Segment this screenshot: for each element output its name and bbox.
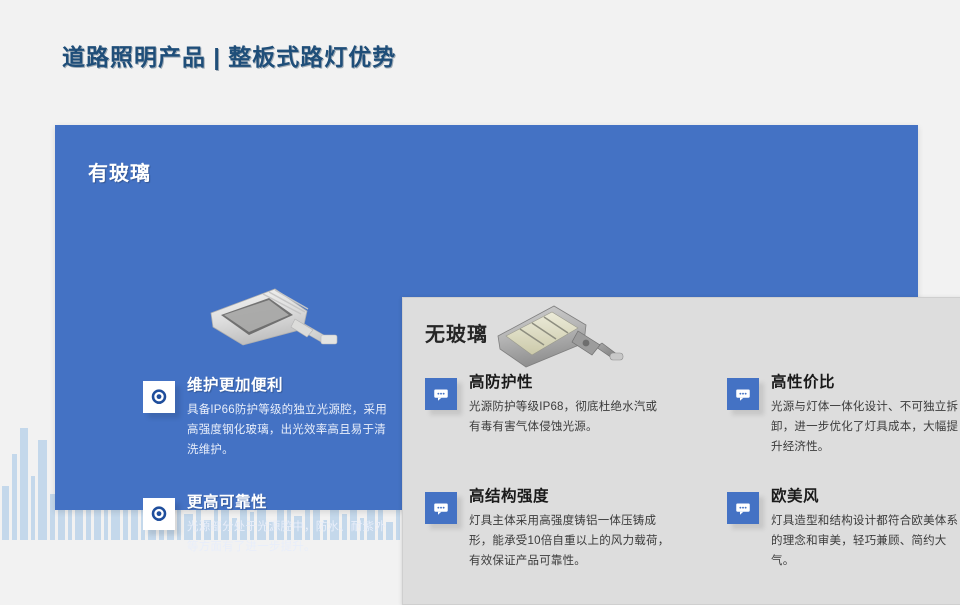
speech-bubble-dots-icon [727, 378, 759, 410]
deco-bar [2, 486, 9, 540]
feature-item-euro-american-style[interactable]: 欧美风 灯具造型和结构设计都符合欧美体系的理念和审美，轻巧兼顾、简约大气。 [727, 488, 960, 571]
page-title: 道路照明产品 | 整板式路灯优势 [62, 38, 396, 72]
feature-description: 光源部分处于光源腔中，防水、耐紫外等方面有了进一步提升。 [187, 517, 388, 557]
street-lamp-with-glass-image [203, 283, 338, 366]
blue-comparison-panel: 有玻璃 [55, 125, 918, 510]
speech-bubble-dots-icon [425, 378, 457, 410]
deco-bar [31, 476, 35, 540]
feature-item-protection[interactable]: 高防护性 光源防护等级IP68，彻底杜绝水汽或有毒有害气体侵蚀光源。 [425, 374, 660, 437]
feature-description: 光源防护等级IP68，彻底杜绝水汽或有毒有害气体侵蚀光源。 [469, 397, 660, 437]
street-lamp-without-glass-image [492, 301, 624, 380]
feature-title: 高防护性 [469, 374, 660, 393]
feature-title: 更高可靠性 [187, 494, 388, 513]
deco-bar [38, 440, 47, 540]
feature-description: 灯具主体采用高强度铸铝一体压铸成形，能承受10倍自重以上的风力载荷，有效保证产品… [469, 511, 670, 571]
camera-ring-icon [143, 381, 175, 413]
deco-bar [12, 454, 17, 540]
feature-description: 灯具造型和结构设计都符合欧美体系的理念和审美，轻巧兼顾、简约大气。 [771, 511, 960, 571]
feature-description: 光源与灯体一体化设计、不可独立拆卸，进一步优化了灯具成本，大幅提升经济性。 [771, 397, 960, 457]
feature-item-maintenance[interactable]: 维护更加便利 具备IP66防护等级的独立光源腔，采用高强度钢化玻璃，出光效率高且… [143, 377, 388, 460]
feature-item-reliability[interactable]: 更高可靠性 光源部分处于光源腔中，防水、耐紫外等方面有了进一步提升。 [143, 494, 388, 557]
feature-item-structure-strength[interactable]: 高结构强度 灯具主体采用高强度铸铝一体压铸成形，能承受10倍自重以上的风力载荷，… [425, 488, 670, 571]
deco-bar [20, 428, 28, 540]
camera-ring-icon [143, 498, 175, 530]
blue-panel-heading: 有玻璃 [88, 157, 151, 186]
feature-title: 高性价比 [771, 374, 960, 393]
feature-item-cost-performance[interactable]: 高性价比 光源与灯体一体化设计、不可独立拆卸，进一步优化了灯具成本，大幅提升经济… [727, 374, 960, 457]
feature-description: 具备IP66防护等级的独立光源腔，采用高强度钢化玻璃，出光效率高且易于清洗维护。 [187, 400, 388, 460]
speech-bubble-dots-icon [727, 492, 759, 524]
speech-bubble-dots-icon [425, 492, 457, 524]
feature-title: 欧美风 [771, 488, 960, 507]
feature-title: 维护更加便利 [187, 377, 388, 396]
feature-title: 高结构强度 [469, 488, 670, 507]
gray-panel-heading: 无玻璃 [425, 318, 488, 347]
